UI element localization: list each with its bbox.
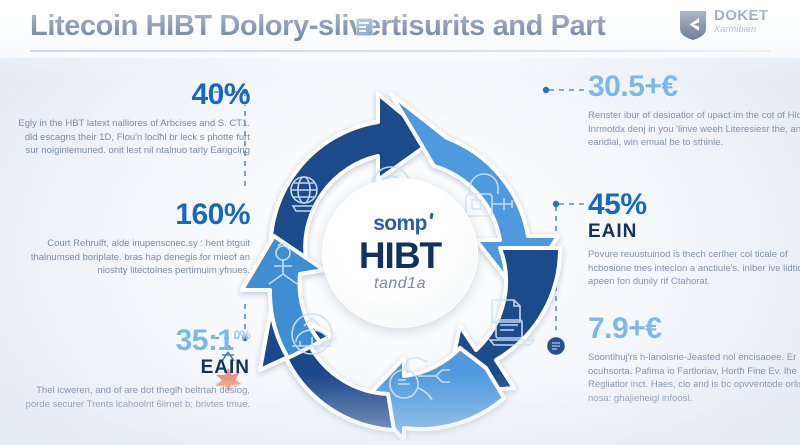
stat-description: Court Rehrulft, alde inupenscnec.sy : he…: [12, 237, 250, 278]
stat-value: 160%: [12, 198, 250, 232]
stat-value: 35:1: [176, 324, 234, 357]
logo-tagline: Xarmibien: [714, 24, 769, 35]
stat-value-wrap: 35:10%: [12, 318, 250, 358]
header-bar: Litecoin HIBT Dolory-slivertisurits and …: [0, 0, 800, 58]
stat-description: Egly in the HBT latext nalliores of Arbc…: [12, 117, 250, 158]
stat-value: 30.5+€: [588, 70, 800, 104]
hub-brand-tick-icon: [429, 213, 433, 219]
stat-block-left-1: 40% Egly in the HBT latext nalliores of …: [12, 78, 250, 158]
hub-brand-text: somp: [373, 212, 427, 235]
stat-description: Thel icweren, and of are dot theglħ belt…: [12, 384, 250, 411]
stat-description: Soontlhuj'rs h-lanoisrie-Jeasted nol enc…: [588, 351, 800, 405]
stat-description: Povure reuustuinod is thech cerlher col …: [588, 248, 800, 289]
logo-name: DOKET: [714, 8, 769, 24]
hub-main-label: HIBT: [359, 236, 441, 276]
stat-block-right-2: 45% EAIN Povure reuustuinod is thech cer…: [588, 188, 800, 289]
header-divider: [30, 50, 770, 52]
brand-logo: DOKET Xarmibien: [678, 7, 782, 45]
center-hub: somp HIBT tand1a: [322, 178, 478, 328]
hub-sub-label: tand1a: [374, 275, 426, 293]
stat-sublabel: EAIN: [588, 221, 800, 243]
stat-sublabel: EAIN: [12, 357, 250, 379]
document-badge-icon: [356, 18, 373, 36]
stat-block-left-2: 160% Court Rehrulft, alde inupenscnec.sy…: [12, 198, 250, 278]
logo-text: DOKET Xarmibien: [714, 8, 769, 35]
stat-value: 7.9+€: [588, 312, 800, 346]
shield-chevron-icon: [678, 9, 708, 41]
stat-value: 45%: [588, 188, 800, 222]
infographic-canvas: Litecoin HIBT Dolory-slivertisurits and …: [0, 0, 800, 445]
stat-block-right-3: 7.9+€ Soontlhuj'rs h-lanoisrie-Jeasted n…: [588, 312, 800, 405]
stat-superscript: 0%: [234, 328, 250, 342]
stat-value: 40%: [12, 78, 250, 112]
page-title: Litecoin HIBT Dolory-slivertisurits and …: [30, 9, 605, 43]
stat-description: Renster ibur of desioatior of upact im t…: [588, 109, 800, 150]
stat-block-right-1: 30.5+€ Renster ibur of desioatior of upa…: [588, 70, 800, 150]
hub-brand: somp: [373, 213, 427, 235]
stat-block-left-3: 35:10% EAIN Thel icweren, and of are dot…: [12, 318, 250, 411]
